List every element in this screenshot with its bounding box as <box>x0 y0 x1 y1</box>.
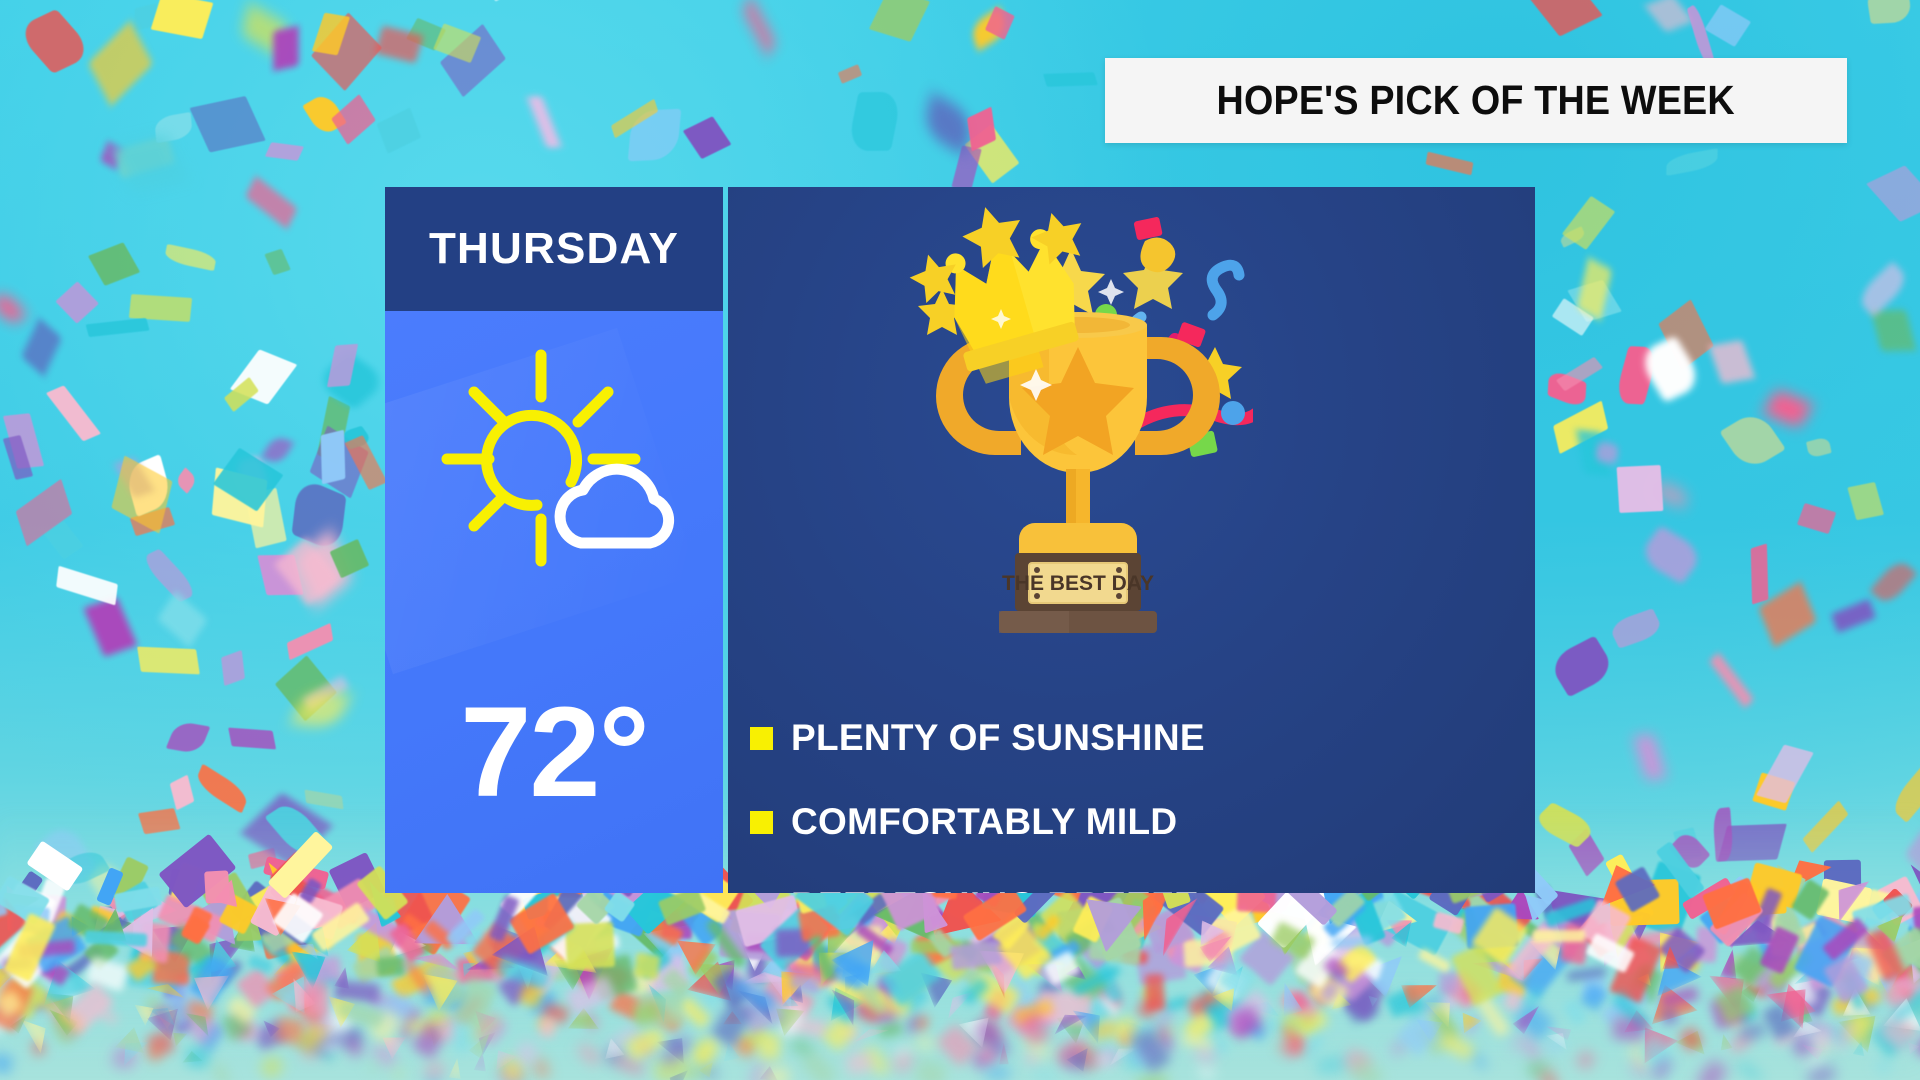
bullet-square-icon <box>750 811 773 834</box>
bullet-square-icon <box>750 727 773 750</box>
day-header: THURSDAY <box>385 187 723 311</box>
forecast-highlights-list: PLENTY OF SUNSHINE COMFORTABLY MILD REFR… <box>750 717 1530 893</box>
trophy-plaque-text: THE BEST DAY <box>1002 572 1154 595</box>
header-banner: HOPE'S PICK OF THE WEEK <box>1105 58 1847 143</box>
pick-of-week-panel: THE BEST DAY PLENTY OF SUNSHINE COMFORTA… <box>728 187 1535 893</box>
day-label: THURSDAY <box>429 224 679 274</box>
banner-title: HOPE'S PICK OF THE WEEK <box>1217 77 1735 124</box>
highlight-label: PLENTY OF SUNSHINE <box>791 717 1205 759</box>
day-forecast-panel: THURSDAY 72° <box>385 187 723 893</box>
temperature-value: 72° <box>385 689 723 817</box>
list-item: REFRESHING BREEZE <box>750 885 1530 893</box>
list-item: COMFORTABLY MILD <box>750 801 1530 843</box>
highlight-label: COMFORTABLY MILD <box>791 801 1177 843</box>
trophy-with-crown-icon: THE BEST DAY <box>903 197 1253 697</box>
day-body: 72° <box>385 311 723 893</box>
highlight-label: REFRESHING BREEZE <box>791 885 1199 893</box>
list-item: PLENTY OF SUNSHINE <box>750 717 1530 759</box>
sun-behind-cloud-icon <box>429 347 679 569</box>
